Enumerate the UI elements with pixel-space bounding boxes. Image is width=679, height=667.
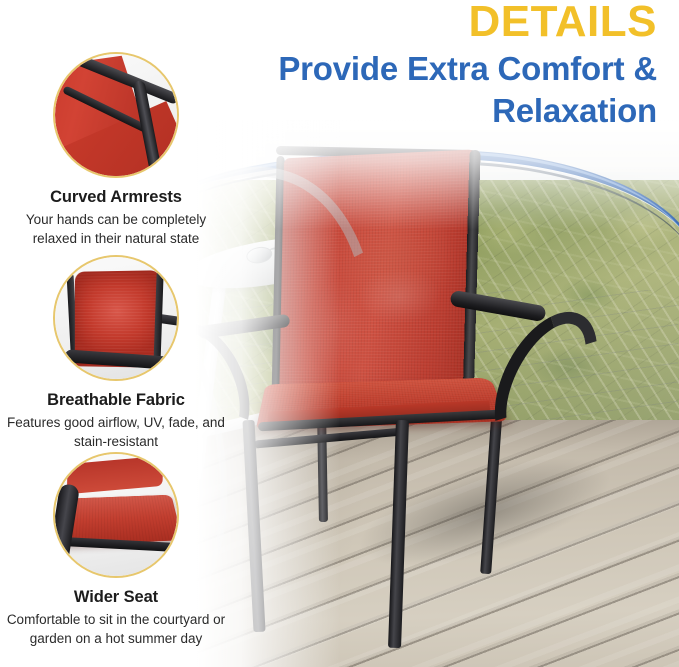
circle-photo-3 [55, 454, 177, 576]
kicker-title: DETAILS [469, 0, 657, 44]
feature-curved-armrests: Curved Armrests Your hands can be comple… [0, 52, 232, 248]
chair-leg-front-right [388, 420, 409, 648]
feature-description: Comfortable to sit in the courtyard or g… [0, 610, 232, 648]
feature-description: Features good airflow, UV, fade, and sta… [0, 413, 232, 451]
feature-title: Breathable Fabric [0, 391, 232, 410]
armrest-right [450, 298, 546, 428]
feature-title: Curved Armrests [0, 188, 232, 207]
feature-title: Wider Seat [0, 588, 232, 607]
product-detail-infographic: DETAILS Provide Extra Comfort & Relaxati… [0, 0, 679, 667]
feature-breathable-fabric: Breathable Fabric Features good airflow,… [0, 255, 232, 451]
curved-armrest-closeup-icon [53, 52, 179, 178]
circle-photo-2 [55, 257, 177, 379]
breathable-fabric-closeup-icon [53, 255, 179, 381]
wider-seat-closeup-icon [53, 452, 179, 578]
armrest-right-top [449, 290, 546, 322]
feature-description: Your hands can be completely relaxed in … [0, 210, 232, 248]
circle-photo-1 [55, 54, 177, 176]
feature-wider-seat: Wider Seat Comfortable to sit in the cou… [0, 452, 232, 648]
